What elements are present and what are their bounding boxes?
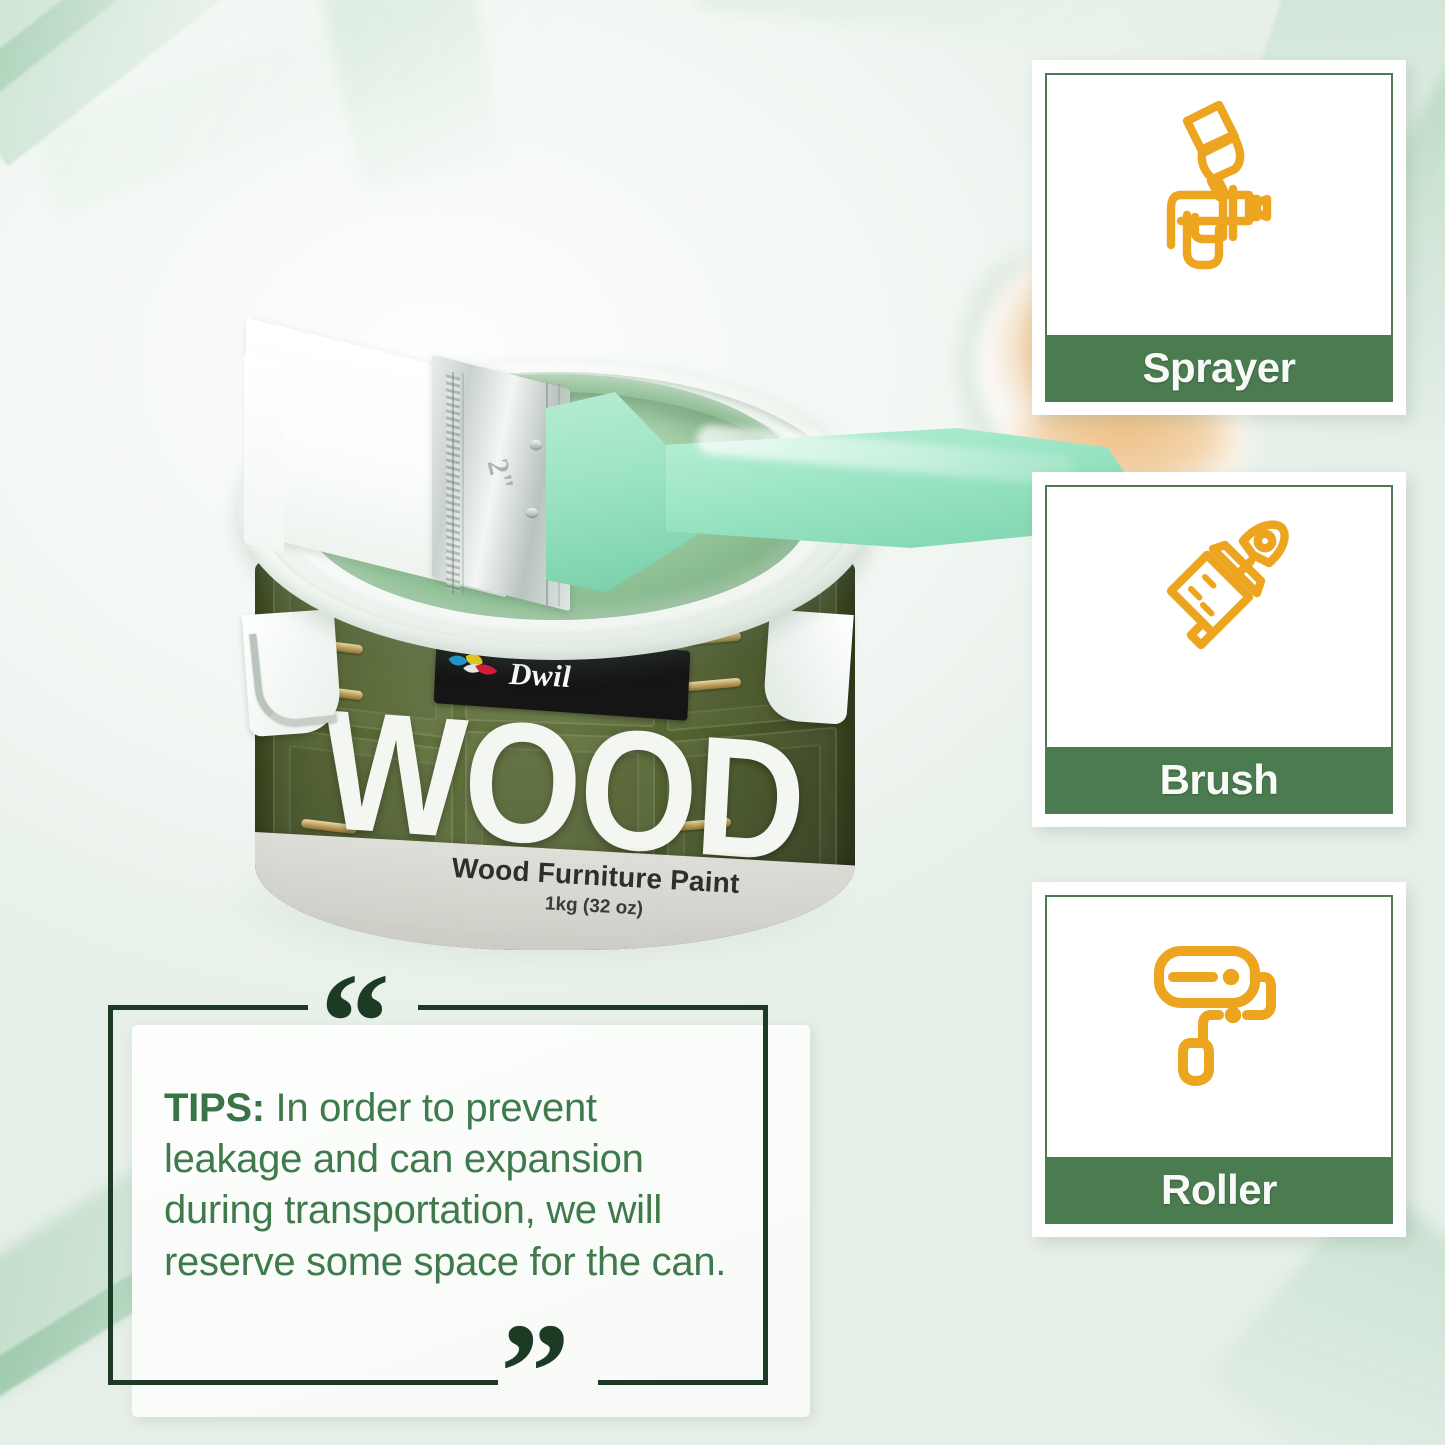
paint-brush-icon: [1119, 501, 1319, 701]
paint-can: Dwil WOOD Wood Furniture Paint 1kg (32 o…: [150, 160, 970, 1000]
quote-close-icon: ”: [500, 1303, 566, 1443]
tips-frame-left: [108, 1005, 113, 1385]
method-card-label: Roller: [1046, 1157, 1392, 1223]
brush-rivet: [526, 508, 538, 517]
method-card-sprayer[interactable]: Sprayer: [1032, 60, 1406, 415]
method-card-label: Sprayer: [1046, 335, 1392, 401]
brush-rivet: [530, 440, 542, 449]
brush-bristle-tip: [244, 353, 284, 553]
tips-frame-bottom-left: [108, 1380, 498, 1385]
product-infographic: Dwil WOOD Wood Furniture Paint 1kg (32 o…: [0, 0, 1445, 1445]
method-card-brush[interactable]: Brush: [1032, 472, 1406, 827]
method-card-roller[interactable]: Roller: [1032, 882, 1406, 1237]
quote-open-icon: “: [320, 953, 386, 1093]
tips-frame-bottom-right: [598, 1380, 768, 1385]
brush-handle: [546, 392, 1106, 592]
tips-text: TIPS: In order to prevent leakage and ca…: [164, 1083, 740, 1288]
paint-roller-icon: [1119, 911, 1319, 1111]
method-card-label: Brush: [1046, 747, 1392, 813]
tips-lead: TIPS:: [164, 1086, 265, 1130]
tips-frame-top-left: [108, 1005, 308, 1010]
tips-callout: “ ” TIPS: In order to prevent leakage an…: [108, 1005, 810, 1417]
brush-ferrule-line: [452, 372, 454, 594]
paint-brush: 2": [246, 340, 1126, 670]
tips-frame-top-right: [418, 1005, 768, 1010]
brush-ferrule-line: [462, 373, 464, 595]
spray-gun-icon: [1119, 89, 1319, 289]
application-method-list: Sprayer Brush: [1032, 60, 1406, 1245]
tips-frame-right: [763, 1005, 768, 1385]
